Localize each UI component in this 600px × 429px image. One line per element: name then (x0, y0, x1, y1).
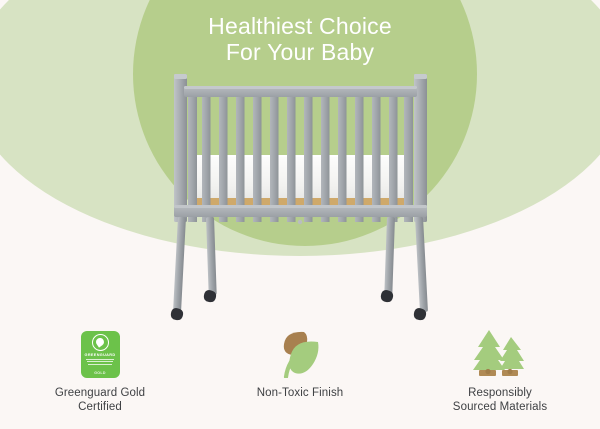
crib-caster-wheels (171, 290, 426, 320)
tree-large-shape (473, 330, 505, 370)
badge-art: GREENGUARD GOLD (81, 326, 120, 378)
crib-bottom-rail-highlight (174, 205, 427, 208)
log-left-end (485, 369, 490, 374)
crib-leg-front-right (415, 217, 428, 312)
feature-badges-row: GREENGUARD GOLD Greenguard Gold Certifie… (0, 326, 600, 426)
badge-art (469, 326, 531, 378)
badge-responsibly-sourced-materials: Responsibly Sourced Materials (400, 326, 600, 426)
badge-label-line-1: Greenguard Gold (55, 387, 145, 399)
headline-line-1: Healthiest Choice (208, 13, 392, 39)
badge-greenguard-gold-certified: GREENGUARD GOLD Greenguard Gold Certifie… (0, 326, 200, 426)
badge-art (274, 326, 326, 378)
tree-small-shape (500, 337, 524, 369)
headline-line-2: For Your Baby (0, 39, 600, 65)
greenguard-gold-certificate-icon: GREENGUARD GOLD (81, 331, 120, 378)
badge-label: Non-Toxic Finish (257, 386, 344, 400)
badge-label: Responsibly Sourced Materials (453, 386, 547, 414)
badge-label: Greenguard Gold Certified (55, 386, 145, 414)
badge-non-toxic-finish: Non-Toxic Finish (200, 326, 400, 426)
headline: Healthiest Choice For Your Baby (0, 13, 600, 65)
log-right-end (507, 369, 512, 374)
badge-label-line-2: Sourced Materials (453, 401, 547, 413)
badge-label-line-1: Non-Toxic Finish (257, 387, 344, 399)
greenguard-text-lines (86, 359, 114, 366)
greenguard-emblem-icon (92, 334, 109, 351)
pine-trees-icon (469, 328, 531, 378)
promo-banner: Healthiest Choice For Your Baby (0, 0, 600, 429)
crib-product-image (168, 72, 433, 322)
crib-leg-back-right (384, 217, 395, 295)
leaf-icon (274, 328, 326, 378)
crib-leg-front-left (173, 217, 186, 312)
greenguard-wordmark: GREENGUARD (85, 353, 116, 357)
crib-center-hardware (298, 220, 302, 224)
badge-label-line-2: Certified (78, 401, 122, 413)
greenguard-tier-label: GOLD (81, 371, 120, 375)
crib-leg-back-left (206, 217, 217, 295)
badge-label-line-1: Responsibly (468, 387, 532, 399)
crib-top-rail-highlight (184, 86, 417, 89)
